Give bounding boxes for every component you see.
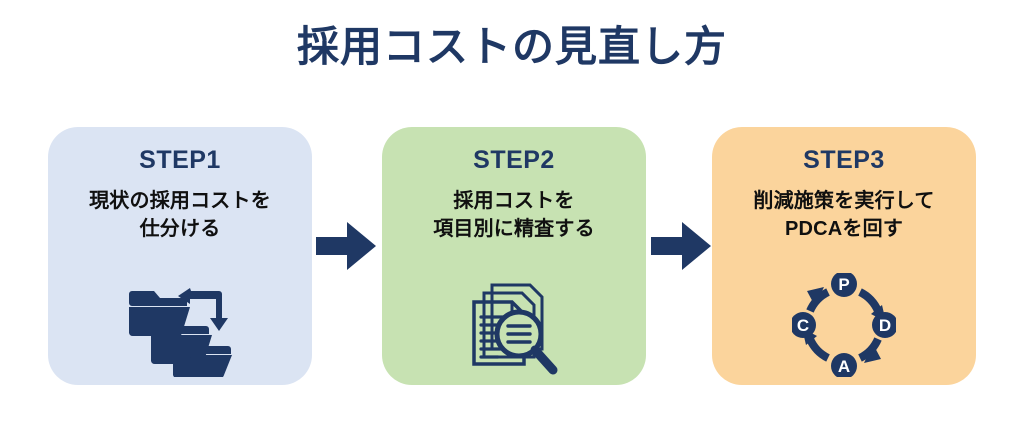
step-3-icon-wrap: P D A C (712, 272, 976, 377)
pdca-label-c: C (797, 316, 809, 335)
pdca-label-a: A (838, 357, 850, 376)
connector-arrow-2 (651, 222, 711, 270)
step-2-icon-wrap (382, 272, 646, 377)
step-flow-diagram: STEP1 現状の採用コストを 仕分ける (48, 127, 976, 385)
arrow-right-icon (651, 222, 711, 270)
pdca-label-p: P (838, 275, 849, 294)
step-1-description: 現状の採用コストを 仕分ける (89, 187, 271, 243)
page-title: 採用コストの見直し方 (0, 18, 1024, 76)
step-2-label: STEP2 (473, 145, 555, 175)
step-card-1: STEP1 現状の採用コストを 仕分ける (48, 127, 312, 385)
step-1-label: STEP1 (139, 145, 221, 175)
step-2-description: 採用コストを 項目別に精査する (433, 187, 595, 243)
step-card-3: STEP3 削減施策を実行して PDCAを回す (712, 127, 976, 385)
arrow-right-icon (316, 222, 376, 270)
folders-sorting-icon (128, 277, 232, 377)
step-card-2: STEP2 採用コストを 項目別に精査する (382, 127, 646, 385)
pdca-label-d: D (879, 316, 891, 335)
step-3-label: STEP3 (803, 145, 885, 175)
step-1-icon-wrap (48, 272, 312, 377)
connector-arrow-1 (316, 222, 376, 270)
step-3-description: 削減施策を実行して PDCAを回す (753, 187, 934, 243)
pdca-cycle-icon: P D A C (792, 273, 896, 377)
document-magnifier-icon (464, 277, 564, 377)
